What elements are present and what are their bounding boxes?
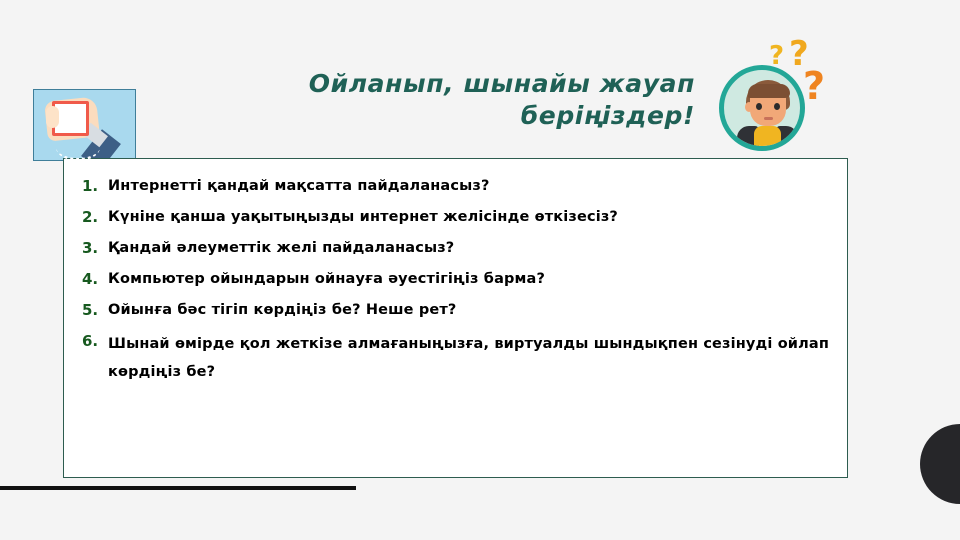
list-item: 3. Қандай әлеуметтік желі пайдаланасыз?: [78, 237, 829, 259]
list-item-text: Қандай әлеуметтік желі пайдаланасыз?: [108, 237, 829, 259]
list-item-text: Шынай өмірде қол жеткізе алмағаныңызға, …: [108, 330, 829, 386]
slide-canvas: Ойланып, шынайы жауап беріңіздер! ? ? ?: [0, 0, 960, 540]
list-item-number: 2.: [78, 206, 108, 228]
list-item-text: Ойынға бәс тігіп көрдіңіз бе? Неше рет?: [108, 299, 829, 321]
chain-shape: [56, 134, 100, 161]
list-item: 5. Ойынға бәс тігіп көрдіңіз бе? Неше ре…: [78, 299, 829, 321]
left-eye-shape: [756, 103, 762, 110]
page-title: Ойланып, шынайы жауап беріңіздер!: [150, 68, 695, 132]
hand-card-illustration: [33, 89, 136, 161]
list-item-number: 1.: [78, 175, 108, 197]
list-item: 1. Интернетті қандай мақсатта пайдаланас…: [78, 175, 829, 197]
thumb-shape: [46, 106, 59, 128]
list-item-number: 4.: [78, 268, 108, 290]
question-mark-icon-1: ?: [769, 43, 784, 69]
mouth-shape: [764, 117, 773, 120]
avatar-circle: [719, 65, 805, 151]
thinking-person-avatar: ? ? ?: [719, 65, 813, 155]
corner-circle-decoration: [920, 424, 960, 504]
questions-panel: 1. Интернетті қандай мақсатта пайдаланас…: [63, 158, 848, 478]
right-eye-shape: [774, 103, 780, 110]
list-item-text: Күніне қанша уақытыңызды интернет желісі…: [108, 206, 829, 228]
list-item: 2. Күніне қанша уақытыңызды интернет жел…: [78, 206, 829, 228]
questions-list: 1. Интернетті қандай мақсатта пайдаланас…: [64, 159, 847, 386]
list-item: 6. Шынай өмірде қол жеткізе алмағаныңызғ…: [78, 330, 829, 386]
list-item-text: Интернетті қандай мақсатта пайдаланасыз?: [108, 175, 829, 197]
bottom-rule-decoration: [0, 486, 356, 490]
question-mark-icon-3: ?: [803, 67, 825, 105]
list-item-number: 3.: [78, 237, 108, 259]
fringe-shape: [748, 84, 790, 98]
list-item-text: Компьютер ойындарын ойнауға әуестігіңіз …: [108, 268, 829, 290]
list-item: 4. Компьютер ойындарын ойнауға әуестігің…: [78, 268, 829, 290]
shirt-shape: [754, 126, 781, 151]
list-item-number: 6.: [78, 330, 108, 352]
list-item-number: 5.: [78, 299, 108, 321]
